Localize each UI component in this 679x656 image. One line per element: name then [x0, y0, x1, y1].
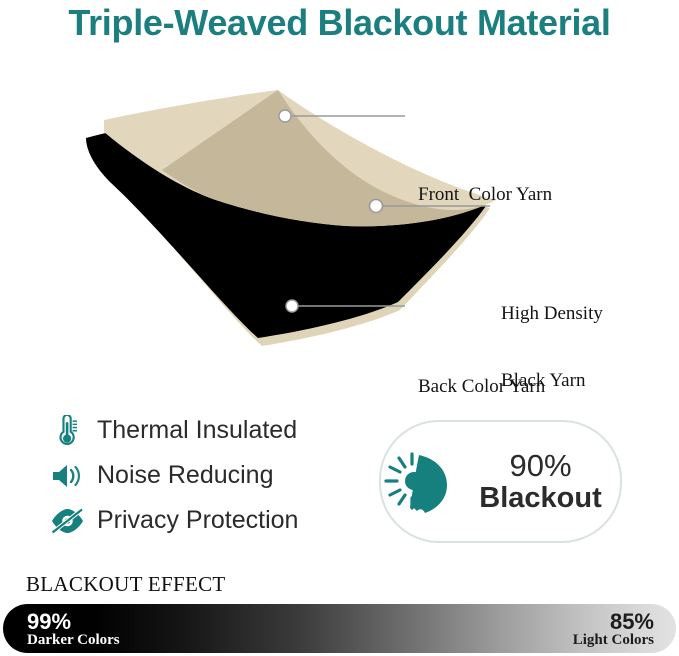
page-title: Triple-Weaved Blackout Material: [0, 2, 679, 44]
blackout-badge-text: 90% Blackout: [461, 450, 620, 513]
sun-curtain-icon: [381, 445, 455, 519]
fabric-layers-diagram: Front Color Yarn High Density Black Yarn…: [0, 78, 679, 358]
blackout-percent: 90%: [509, 448, 571, 483]
feature-label-privacy-protection: Privacy Protection: [97, 506, 298, 535]
eye-slash-icon: [47, 504, 87, 538]
blackout-effect-gradient-bar: 99% Darker Colors 85% Light Colors: [3, 604, 676, 653]
darker-colors-percent: 99%: [27, 611, 120, 633]
feature-item-noise-reducing: Noise Reducing: [47, 453, 377, 498]
gradient-bar-left-label: 99% Darker Colors: [27, 611, 120, 649]
thermometer-icon: [47, 414, 87, 448]
product-infographic: Triple-Weaved Blackout Material: [0, 0, 679, 656]
darker-colors-caption: Darker Colors: [27, 633, 120, 648]
gradient-bar-right-label: 85% Light Colors: [573, 611, 654, 649]
blackout-word: Blackout: [479, 482, 601, 514]
speaker-sound-icon: [47, 459, 87, 493]
callout-label-front-color-yarn: Front Color Yarn: [418, 184, 552, 206]
blackout-badge: 90% Blackout: [379, 420, 622, 543]
light-colors-percent: 85%: [573, 611, 654, 633]
feature-label-noise-reducing: Noise Reducing: [97, 461, 274, 490]
callout-label-line-1: High Density: [501, 303, 603, 325]
feature-item-privacy-protection: Privacy Protection: [47, 498, 377, 543]
feature-list: Thermal Insulated Noise Reducing: [47, 408, 377, 543]
feature-item-thermal-insulated: Thermal Insulated: [47, 408, 377, 453]
callout-label-back-color-yarn: Back Color Yarn: [418, 376, 545, 398]
callout-label-high-density-black-yarn: High Density Black Yarn: [501, 258, 603, 437]
blackout-effect-title: BLACKOUT EFFECT: [26, 572, 226, 597]
feature-label-thermal-insulated: Thermal Insulated: [97, 416, 297, 445]
light-colors-caption: Light Colors: [573, 633, 654, 648]
